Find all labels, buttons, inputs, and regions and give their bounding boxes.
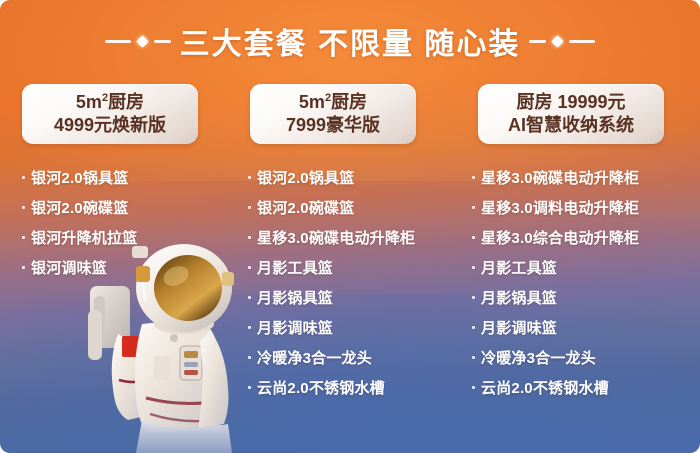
package-header-2[interactable]: 5m2厨房 7999豪华版 <box>250 84 416 144</box>
bullet-dot-icon <box>22 176 25 179</box>
bullet-dot-icon <box>472 296 475 299</box>
bullet-dot-icon <box>22 236 25 239</box>
package-column-1: 5m2厨房 4999元焕新版 银河2.0锅具篮 银河2.0碗碟篮 银河升降机拉篮 <box>0 84 228 402</box>
list-item: 星移3.0综合电动升降柜 <box>472 222 700 252</box>
list-item: 银河调味篮 <box>22 252 228 282</box>
bullet-dot-icon <box>248 356 251 359</box>
bullet-dot-icon <box>22 206 25 209</box>
bullet-dot-icon <box>248 326 251 329</box>
dash-icon <box>154 40 171 43</box>
bullet-dot-icon <box>248 176 251 179</box>
bullet-dot-icon <box>472 176 475 179</box>
package-header-3-line2: AI智慧收纳系统 <box>508 115 634 136</box>
list-item: 星移3.0碗碟电动升降柜 <box>248 222 456 252</box>
bullet-dot-icon <box>472 236 475 239</box>
bullet-dot-icon <box>472 386 475 389</box>
list-item: 银河2.0锅具篮 <box>248 162 456 192</box>
list-item: 月影工具篮 <box>472 252 700 282</box>
bullet-dot-icon <box>22 266 25 269</box>
list-item: 银河2.0锅具篮 <box>22 162 228 192</box>
list-item: 星移3.0调料电动升降柜 <box>472 192 700 222</box>
list-item: 云尚2.0不锈钢水槽 <box>472 372 700 402</box>
list-item: 月影锅具篮 <box>472 282 700 312</box>
bullet-dot-icon <box>472 326 475 329</box>
list-item: 月影工具篮 <box>248 252 456 282</box>
list-item: 月影调味篮 <box>248 312 456 342</box>
dash-icon <box>569 40 595 43</box>
package-header-1[interactable]: 5m2厨房 4999元焕新版 <box>22 84 198 144</box>
bullet-dot-icon <box>472 206 475 209</box>
package-header-3[interactable]: 厨房 19999元 AI智慧收纳系统 <box>478 84 664 144</box>
title-decoration-right <box>529 37 595 46</box>
list-item: 云尚2.0不锈钢水槽 <box>248 372 456 402</box>
bullet-dot-icon <box>248 386 251 389</box>
list-item: 冷暖净3合一龙头 <box>248 342 456 372</box>
package-item-list-1: 银河2.0锅具篮 银河2.0碗碟篮 银河升降机拉篮 银河调味篮 <box>16 162 228 282</box>
bullet-dot-icon <box>472 356 475 359</box>
promo-poster: 三大套餐 不限量 随心装 5m2厨房 4999元焕新版 银河2.0锅具篮 银河2… <box>0 0 700 453</box>
dash-icon <box>105 40 131 43</box>
package-column-3: 厨房 19999元 AI智慧收纳系统 星移3.0碗碟电动升降柜 星移3.0调料电… <box>456 84 700 402</box>
dash-icon <box>529 40 546 43</box>
diamond-sparkle-icon <box>136 35 149 48</box>
list-item: 月影调味篮 <box>472 312 700 342</box>
list-item: 银河2.0碗碟篮 <box>22 192 228 222</box>
package-column-2: 5m2厨房 7999豪华版 银河2.0锅具篮 银河2.0碗碟篮 星移3.0碗碟电… <box>228 84 456 402</box>
list-item: 冷暖净3合一龙头 <box>472 342 700 372</box>
package-item-list-2: 银河2.0锅具篮 银河2.0碗碟篮 星移3.0碗碟电动升降柜 月影工具篮 月影锅… <box>242 162 456 402</box>
bullet-dot-icon <box>248 266 251 269</box>
package-header-3-line1: 厨房 19999元 <box>516 92 625 113</box>
package-header-2-line2: 7999豪华版 <box>286 115 380 136</box>
astronaut-lower-body <box>136 420 232 453</box>
package-header-2-line1: 5m2厨房 <box>299 92 367 113</box>
list-item: 星移3.0碗碟电动升降柜 <box>472 162 700 192</box>
list-item: 银河2.0碗碟篮 <box>248 192 456 222</box>
package-header-1-line2: 4999元焕新版 <box>54 115 166 136</box>
list-item: 月影锅具篮 <box>248 282 456 312</box>
bullet-dot-icon <box>248 206 251 209</box>
page-title: 三大套餐 不限量 随心装 <box>180 19 521 63</box>
list-item: 银河升降机拉篮 <box>22 222 228 252</box>
bullet-dot-icon <box>248 236 251 239</box>
package-item-list-3: 星移3.0碗碟电动升降柜 星移3.0调料电动升降柜 星移3.0综合电动升降柜 月… <box>466 162 700 402</box>
bullet-dot-icon <box>472 266 475 269</box>
poster-title-row: 三大套餐 不限量 随心装 <box>0 20 700 62</box>
diamond-sparkle-icon <box>551 35 564 48</box>
package-columns: 5m2厨房 4999元焕新版 银河2.0锅具篮 银河2.0碗碟篮 银河升降机拉篮 <box>0 84 700 402</box>
bullet-dot-icon <box>248 296 251 299</box>
package-header-1-line1: 5m2厨房 <box>76 92 144 113</box>
title-decoration-left <box>105 37 171 46</box>
